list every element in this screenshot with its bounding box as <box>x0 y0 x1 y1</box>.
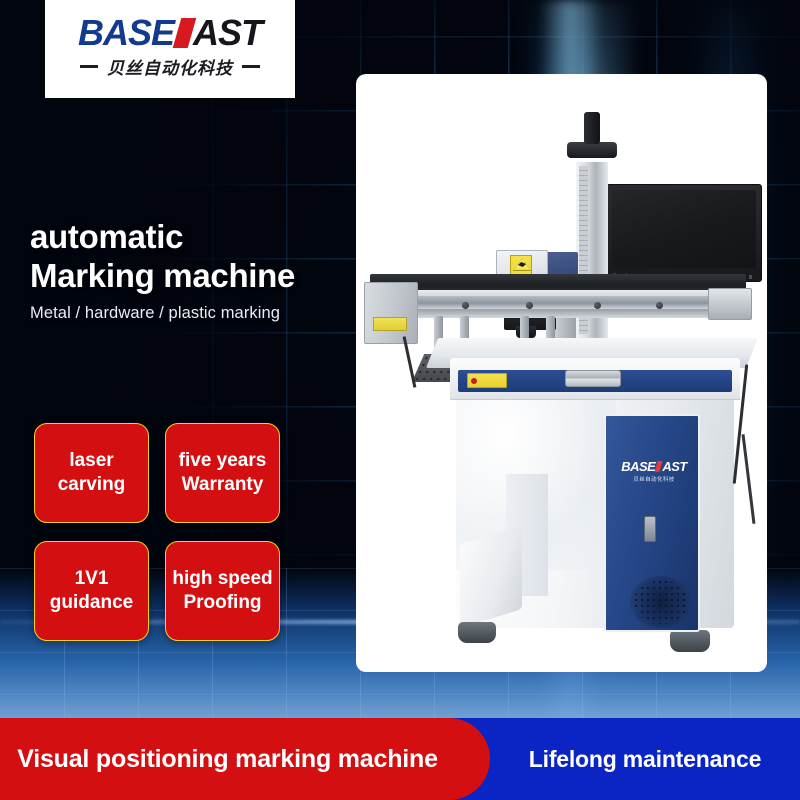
headline-line1: automatic <box>30 218 295 257</box>
feature-badge-line1: high speed <box>172 567 272 591</box>
cabinet-vent-grille-icon <box>630 576 692 628</box>
headline-block: automatic Marking machine Metal / hardwa… <box>30 218 295 323</box>
brand-logo-chinese-row: 贝丝自动化科技 <box>80 54 260 79</box>
conveyor-motor-box <box>364 282 418 344</box>
conveyor-bolt <box>594 302 601 309</box>
feature-badge: high speed Proofing <box>165 541 280 641</box>
brand-logo: BASE AST 贝丝自动化科技 <box>45 0 295 98</box>
dash-right-icon <box>242 65 260 68</box>
banner-right-text: Lifelong maintenance <box>490 718 800 800</box>
cabinet-foot-right <box>670 630 710 652</box>
dash-left-icon <box>80 65 98 68</box>
monitor: Fonel <box>606 184 762 282</box>
cabinet-logo-primary: BASE <box>621 460 655 473</box>
power-cable-secondary <box>741 434 754 524</box>
feature-badge-line2: guidance <box>50 591 133 615</box>
feature-badge: 1V1 guidance <box>34 541 149 641</box>
monitor-screen <box>612 190 756 268</box>
product-poster: BASE AST 贝丝自动化科技 automatic Marking machi… <box>0 0 800 800</box>
feature-badge: laser carving <box>34 423 149 523</box>
cabinet-door-lock-icon <box>644 516 656 542</box>
conveyor-end-cap <box>708 288 752 320</box>
cabinet-door-logo: BASE AST 贝丝自动化科技 <box>618 460 690 483</box>
cabinet-door: BASE AST 贝丝自动化科技 <box>604 414 700 632</box>
cabinet-logo-chinese: 贝丝自动化科技 <box>618 475 690 483</box>
conveyor-bolt <box>526 302 533 309</box>
brand-logo-primary: BASE <box>78 15 174 51</box>
product-photo-panel: Fonel <box>356 74 767 672</box>
brand-logo-wordmark: BASE AST <box>78 15 262 51</box>
feature-badge-line1: five years <box>179 449 267 473</box>
cabinet-drawer-handle <box>565 370 621 387</box>
feature-badge-line2: carving <box>58 473 126 497</box>
conveyor-bolt <box>656 302 663 309</box>
headline-line2: Marking machine <box>30 257 295 296</box>
brand-logo-secondary: AST <box>193 15 262 51</box>
cabinet-warning-label-icon <box>467 373 507 388</box>
cabinet-logo-secondary: AST <box>662 460 687 473</box>
warning-triangle-icon <box>515 258 529 269</box>
feature-badge-group: laser carving five years Warranty 1V1 gu… <box>34 423 280 641</box>
brand-logo-chinese: 贝丝自动化科技 <box>107 54 233 79</box>
feature-badge-line2: Warranty <box>182 473 264 497</box>
column-knob <box>584 112 600 144</box>
feature-badge: five years Warranty <box>165 423 280 523</box>
motor-cable <box>403 336 416 387</box>
feature-badge-line2: Proofing <box>183 591 261 615</box>
bottom-banner: Visual positioning marking machine Lifel… <box>0 718 800 800</box>
cabinet-logo-wordmark: BASE AST <box>618 460 690 473</box>
conveyor-bolt <box>462 302 469 309</box>
cabinet-foot-left <box>458 622 496 643</box>
banner-left-text: Visual positioning marking machine <box>0 718 455 800</box>
column-cap <box>567 142 617 158</box>
feature-badge-line1: laser <box>69 449 113 473</box>
product-machine-illustration: Fonel <box>356 74 767 672</box>
feature-badge-line1: 1V1 <box>75 567 109 591</box>
headline-subtitle: Metal / hardware / plastic marking <box>30 304 295 323</box>
